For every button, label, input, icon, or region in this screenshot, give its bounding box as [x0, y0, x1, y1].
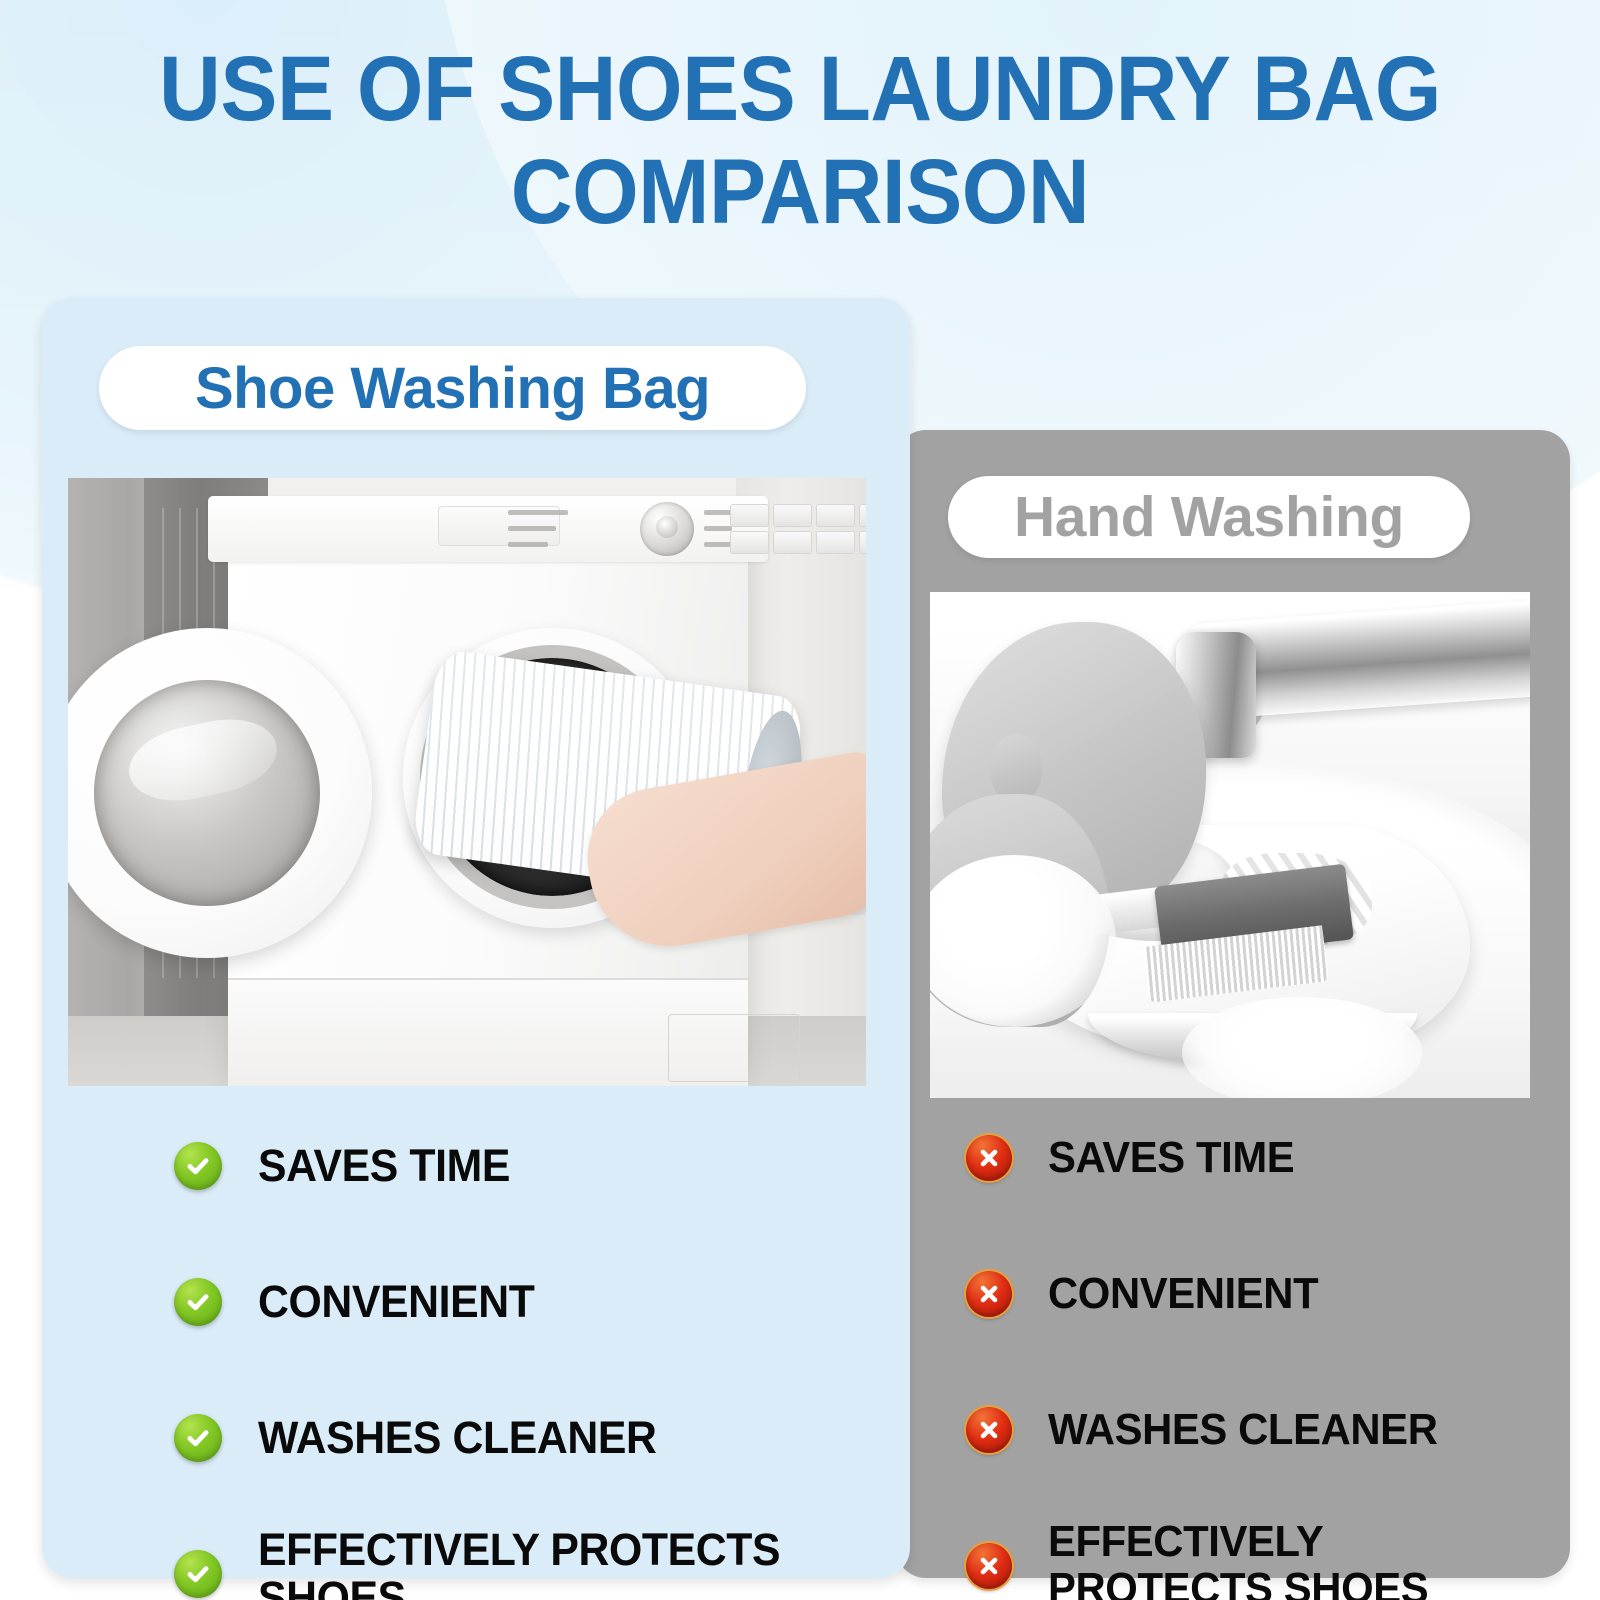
hand-washing-feature-list: SAVES TIME CONVENIENT WASHES CLEANER — [966, 1090, 1546, 1600]
feature-label: SAVES TIME — [1048, 1135, 1294, 1182]
control-button[interactable] — [816, 504, 855, 527]
shoe-washing-bag-feature-list: SAVES TIME CONVENIENT WASHES CLEANER — [174, 1098, 874, 1600]
control-label — [704, 526, 732, 531]
control-buttons[interactable] — [730, 504, 866, 554]
feature-label: EFFECTIVELY PROTECTS SHOES — [1048, 1519, 1466, 1600]
feature-label: WASHES CLEANER — [258, 1414, 656, 1462]
control-label — [508, 510, 568, 515]
feature-row: EFFECTIVELY PROTECTS SHOES — [174, 1506, 874, 1600]
filter-hatch — [668, 1014, 800, 1082]
page-title-line-1: USE OF SHOES LAUNDRY BAG — [159, 38, 1441, 140]
feature-row: CONVENIENT — [174, 1234, 874, 1370]
control-button[interactable] — [816, 531, 855, 554]
control-button[interactable] — [859, 504, 866, 527]
hand-washing-photo — [930, 592, 1530, 1098]
feature-label: CONVENIENT — [1048, 1271, 1318, 1318]
control-button[interactable] — [773, 504, 812, 527]
panel-hand-washing-heading: Hand Washing — [1014, 484, 1404, 550]
check-circle-icon — [174, 1414, 222, 1462]
page-title: USE OF SHOES LAUNDRY BAG COMPARISON — [56, 38, 1544, 244]
control-button[interactable] — [730, 531, 769, 554]
panel-shoe-washing-bag-heading: Shoe Washing Bag — [195, 355, 710, 422]
feature-row: WASHES CLEANER — [966, 1362, 1546, 1498]
control-label — [508, 542, 548, 547]
feature-row: EFFECTIVELY PROTECTS SHOES — [966, 1498, 1546, 1600]
panel-shoe-washing-bag: Shoe Washing Bag — [42, 298, 910, 1578]
feature-label: WASHES CLEANER — [1048, 1407, 1438, 1454]
control-button[interactable] — [730, 504, 769, 527]
check-circle-icon — [174, 1550, 222, 1598]
panel-hand-washing-heading-pill: Hand Washing — [948, 476, 1470, 558]
soap-foam-bottom — [1182, 997, 1422, 1098]
cross-circle-icon — [966, 1543, 1012, 1589]
feature-label: SAVES TIME — [258, 1142, 510, 1190]
control-label — [508, 526, 556, 531]
page-title-line-2: COMPARISON — [56, 141, 1544, 244]
cross-circle-icon — [966, 1407, 1012, 1453]
control-button[interactable] — [859, 531, 866, 554]
panel-hand-washing: Hand Washing — [896, 430, 1570, 1578]
washing-machine-photo — [68, 478, 866, 1086]
feature-row: SAVES TIME — [966, 1090, 1546, 1226]
check-circle-icon — [174, 1278, 222, 1326]
feature-row: WASHES CLEANER — [174, 1370, 874, 1506]
feature-row: SAVES TIME — [174, 1098, 874, 1234]
feature-row: CONVENIENT — [966, 1226, 1546, 1362]
cross-circle-icon — [966, 1271, 1012, 1317]
washing-machine-base — [228, 978, 748, 1086]
feature-label: CONVENIENT — [258, 1278, 534, 1326]
control-panel — [208, 496, 768, 562]
cross-circle-icon — [966, 1135, 1012, 1181]
check-circle-icon — [174, 1142, 222, 1190]
control-button[interactable] — [773, 531, 812, 554]
door-glass-reflection — [122, 709, 284, 811]
program-dial[interactable] — [640, 502, 694, 556]
panel-shoe-washing-bag-heading-pill: Shoe Washing Bag — [99, 346, 806, 430]
feature-label: EFFECTIVELY PROTECTS SHOES — [258, 1526, 790, 1600]
infographic-root: USE OF SHOES LAUNDRY BAG COMPARISON Hand… — [0, 0, 1600, 1600]
